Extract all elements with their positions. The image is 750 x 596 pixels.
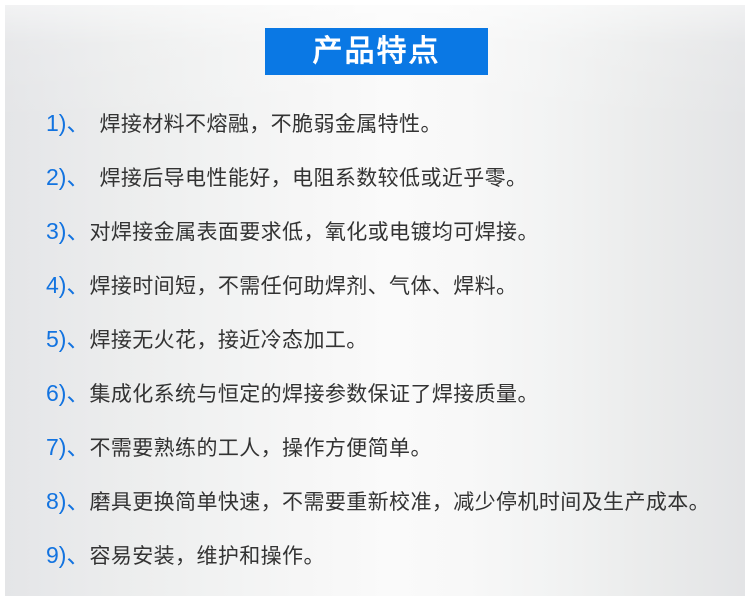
list-item: 3)、 对焊接金属表面要求低，氧化或电镀均可焊接。 <box>46 212 736 266</box>
list-item-marker: 8)、 <box>46 482 89 516</box>
list-item-label: 不需要熟练的工人，操作方便简单。 <box>89 432 431 462</box>
list-item-marker: 2)、 <box>46 158 89 192</box>
list-item-label: 集成化系统与恒定的焊接参数保证了焊接质量。 <box>89 378 538 408</box>
list-item: 6)、 集成化系统与恒定的焊接参数保证了焊接质量。 <box>46 374 736 428</box>
list-item: 8)、 磨具更换简单快速，不需要重新校准，减少停机时间及生产成本。 <box>46 482 736 536</box>
page-content: 产品特点 1)、 焊接材料不熔融，不脆弱金属特性。 2)、 焊接后导电性能好，电… <box>0 0 750 596</box>
list-item-label: 对焊接金属表面要求低，氧化或电镀均可焊接。 <box>89 216 538 246</box>
list-item-marker: 1)、 <box>46 104 89 138</box>
list-item: 4)、 焊接时间短，不需任何助焊剂、气体、焊料。 <box>46 266 736 320</box>
list-item-label: 焊接材料不熔融，不脆弱金属特性。 <box>89 108 441 138</box>
list-item-marker: 4)、 <box>46 266 89 300</box>
list-item-label: 磨具更换简单快速，不需要重新校准，减少停机时间及生产成本。 <box>89 486 710 516</box>
list-item-label: 焊接无火花，接近冷态加工。 <box>89 324 367 354</box>
list-item: 7)、 不需要熟练的工人，操作方便简单。 <box>46 428 736 482</box>
list-item-label: 焊接时间短，不需任何助焊剂、气体、焊料。 <box>89 270 517 300</box>
section-title-banner: 产品特点 <box>265 28 488 75</box>
list-item-marker: 9)、 <box>46 536 89 570</box>
list-item: 2)、 焊接后导电性能好，电阻系数较低或近乎零。 <box>46 158 736 212</box>
list-item: 1)、 焊接材料不熔融，不脆弱金属特性。 <box>46 104 736 158</box>
list-item: 5)、 焊接无火花，接近冷态加工。 <box>46 320 736 374</box>
list-item: 9)、 容易安装，维护和操作。 <box>46 536 736 590</box>
product-features-page: 产品特点 1)、 焊接材料不熔融，不脆弱金属特性。 2)、 焊接后导电性能好，电… <box>0 0 750 596</box>
list-item-marker: 7)、 <box>46 428 89 462</box>
page-title: 产品特点 <box>313 37 441 67</box>
list-item-label: 焊接后导电性能好，电阻系数较低或近乎零。 <box>89 162 527 192</box>
feature-list: 1)、 焊接材料不熔融，不脆弱金属特性。 2)、 焊接后导电性能好，电阻系数较低… <box>46 104 736 590</box>
list-item-marker: 6)、 <box>46 374 89 408</box>
list-item-marker: 5)、 <box>46 320 89 354</box>
list-item-label: 容易安装，维护和操作。 <box>89 540 324 570</box>
list-item-marker: 3)、 <box>46 212 89 246</box>
